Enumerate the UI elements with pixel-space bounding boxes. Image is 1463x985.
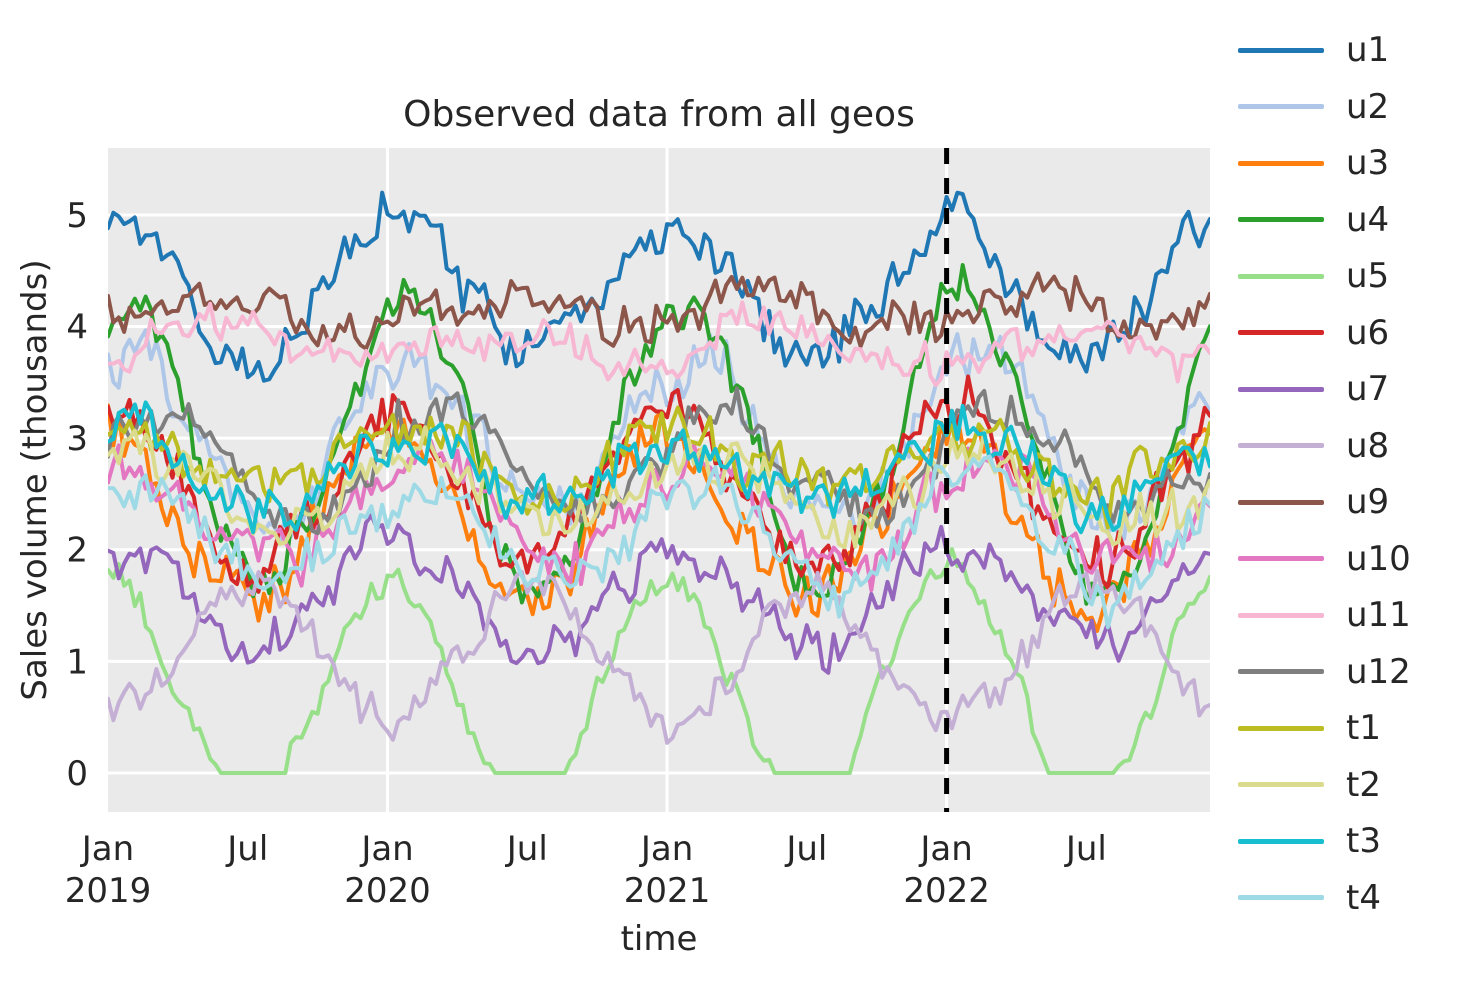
y-tick-label: 5 [66,196,88,236]
x-tick-label-month: Jan [359,829,413,869]
legend-item-label: u5 [1346,259,1389,293]
legend-swatch-icon [1238,48,1324,53]
legend-swatch-icon [1238,726,1324,731]
legend-swatch-icon [1238,500,1324,505]
legend-item-u10[interactable]: u10 [1238,531,1463,588]
legend-swatch-icon [1238,161,1324,166]
legend-swatch-icon [1238,556,1324,561]
legend-item-label: t3 [1346,824,1381,858]
legend-item-label: u8 [1346,429,1389,463]
legend-item-u1[interactable]: u1 [1238,22,1463,79]
x-tick-label-month: Jul [784,829,827,869]
legend-item-u4[interactable]: u4 [1238,192,1463,249]
legend-item-u6[interactable]: u6 [1238,305,1463,362]
legend-item-t4[interactable]: t4 [1238,870,1463,927]
legend-item-label: u3 [1346,146,1389,180]
legend-swatch-icon [1238,613,1324,618]
chart-legend: u1u2u3u4u5u6u7u8u9u10u11u12t1t2t3t4 [1238,22,1463,937]
legend-item-t2[interactable]: t2 [1238,757,1463,814]
x-tick-label-month: Jan [918,829,972,869]
legend-item-t1[interactable]: t1 [1238,700,1463,757]
legend-item-u7[interactable]: u7 [1238,361,1463,418]
legend-item-label: u4 [1346,203,1389,237]
legend-swatch-icon [1238,330,1324,335]
legend-item-label: u7 [1346,372,1389,406]
legend-item-label: t4 [1346,881,1381,915]
y-tick-label: 4 [66,308,88,348]
x-tick-label-month: Jan [80,829,134,869]
legend-swatch-icon [1238,782,1324,787]
legend-swatch-icon [1238,104,1324,109]
y-tick-label: 1 [66,642,88,682]
legend-swatch-icon [1238,217,1324,222]
chart-figure: 012345Jan2019JulJan2020JulJan2021JulJan2… [0,0,1463,985]
legend-swatch-icon [1238,895,1324,900]
x-tick-label-month: Jan [639,829,693,869]
legend-item-label: u11 [1346,598,1411,632]
chart-title: Observed data from all geos [403,94,915,135]
legend-item-label: u2 [1346,90,1389,124]
legend-item-label: u6 [1346,316,1389,350]
legend-item-label: t1 [1346,711,1381,745]
legend-item-label: u9 [1346,485,1389,519]
legend-item-u5[interactable]: u5 [1238,248,1463,305]
legend-swatch-icon [1238,274,1324,279]
legend-item-u12[interactable]: u12 [1238,644,1463,701]
legend-swatch-icon [1238,443,1324,448]
x-tick-label-year: 2021 [624,871,711,911]
x-tick-label-year: 2019 [65,871,152,911]
legend-swatch-icon [1238,839,1324,844]
legend-item-label: t2 [1346,768,1381,802]
legend-item-t3[interactable]: t3 [1238,813,1463,870]
x-tick-label-year: 2022 [903,871,990,911]
legend-swatch-icon [1238,669,1324,674]
legend-item-u2[interactable]: u2 [1238,79,1463,136]
legend-item-label: u10 [1346,542,1411,576]
x-tick-label-month: Jul [1064,829,1107,869]
legend-swatch-icon [1238,387,1324,392]
legend-item-u9[interactable]: u9 [1238,474,1463,531]
legend-item-u3[interactable]: u3 [1238,135,1463,192]
legend-item-label: u1 [1346,33,1389,67]
y-tick-label: 2 [66,531,88,571]
y-axis-label: Sales volume (thousands) [15,259,55,700]
y-tick-label: 3 [66,419,88,459]
x-tick-label-month: Jul [505,829,548,869]
x-tick-label-month: Jul [225,829,268,869]
x-tick-label-year: 2020 [344,871,431,911]
x-axis-label: time [621,919,698,959]
legend-item-u8[interactable]: u8 [1238,418,1463,475]
y-tick-label: 0 [66,754,88,794]
legend-item-u11[interactable]: u11 [1238,587,1463,644]
legend-item-label: u12 [1346,655,1411,689]
